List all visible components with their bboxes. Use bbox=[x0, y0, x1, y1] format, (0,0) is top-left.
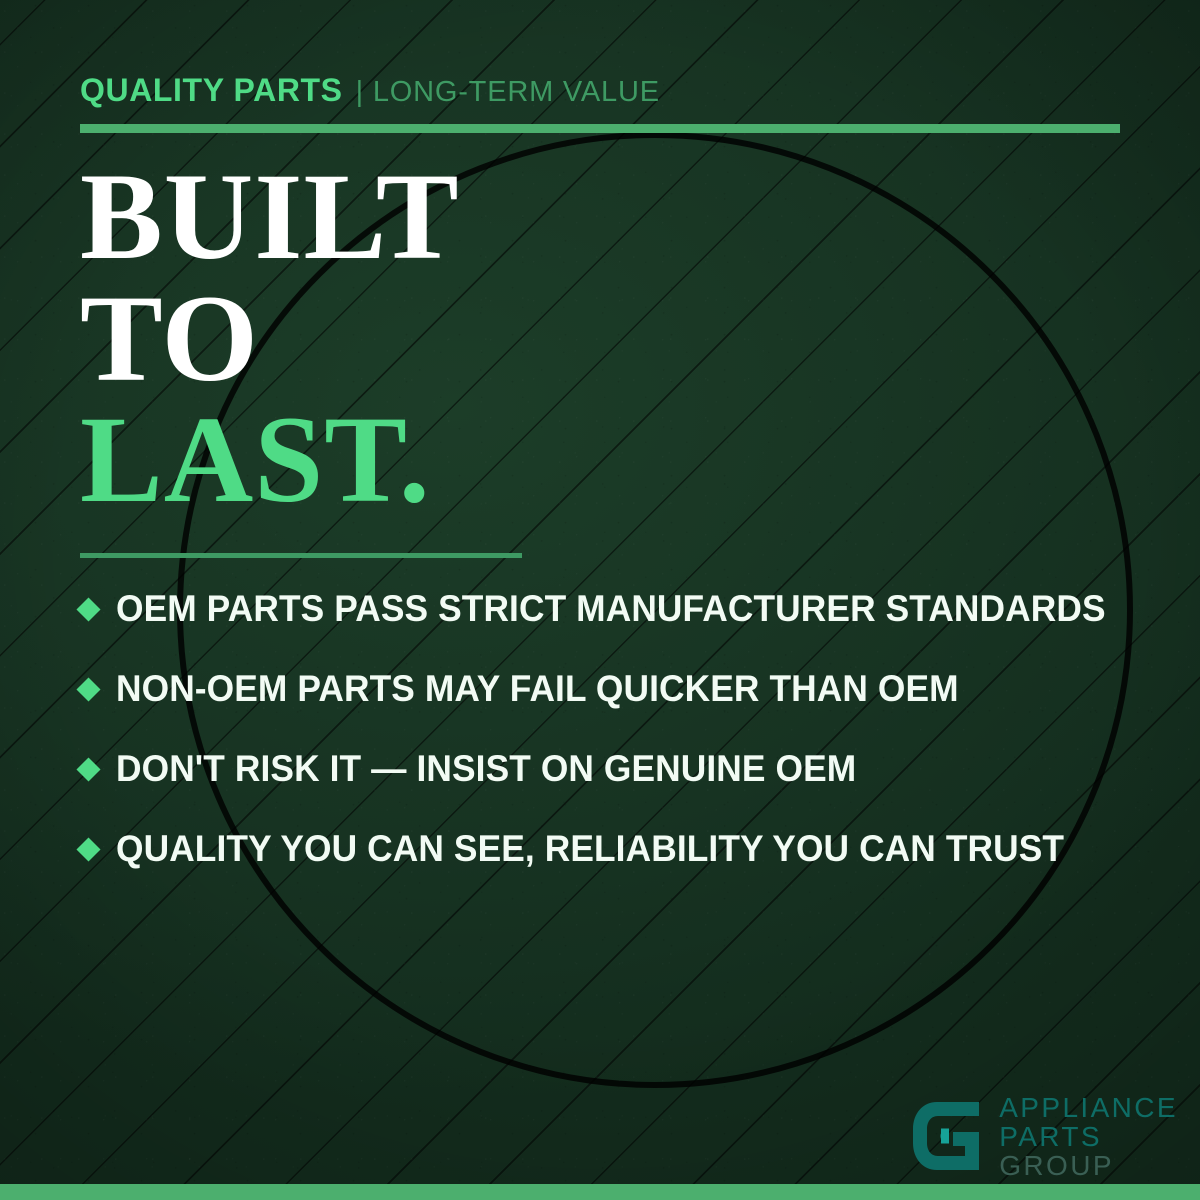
diamond-bullet-icon bbox=[76, 677, 100, 701]
list-item: NON-OEM PARTS MAY FAIL QUICKER THAN OEM bbox=[80, 668, 1140, 710]
list-item: OEM PARTS PASS STRICT MANUFACTURER STAND… bbox=[80, 588, 1140, 630]
header-divider-rule bbox=[80, 124, 1120, 133]
poster-content: QUALITY PARTS | LONG-TERM VALUE BUILT TO… bbox=[0, 0, 1200, 1200]
brand-line-3: GROUP bbox=[999, 1151, 1178, 1180]
list-item: QUALITY YOU CAN SEE, RELIABILITY YOU CAN… bbox=[80, 828, 1140, 870]
page-title: BUILT TO LAST. bbox=[80, 156, 460, 521]
eyebrow-main-label: QUALITY PARTS bbox=[80, 72, 343, 109]
brand-logo: APPLIANCE PARTS GROUP bbox=[907, 1093, 1178, 1180]
list-item: DON'T RISK IT — INSIST ON GENUINE OEM bbox=[80, 748, 1140, 790]
eyebrow-sub-label: | LONG-TERM VALUE bbox=[356, 76, 660, 109]
headline-line-1: BUILT bbox=[80, 156, 460, 278]
header-eyebrow: QUALITY PARTS | LONG-TERM VALUE bbox=[80, 72, 660, 109]
list-item-label: DON'T RISK IT — INSIST ON GENUINE OEM bbox=[116, 748, 856, 790]
list-item-label: QUALITY YOU CAN SEE, RELIABILITY YOU CAN… bbox=[116, 828, 1064, 870]
bottom-accent-bar bbox=[0, 1184, 1200, 1200]
g-monogram-icon bbox=[907, 1096, 987, 1176]
list-item-label: OEM PARTS PASS STRICT MANUFACTURER STAND… bbox=[116, 588, 1106, 630]
headline-line-2: TO bbox=[80, 278, 460, 400]
brand-wordmark: APPLIANCE PARTS GROUP bbox=[999, 1093, 1178, 1180]
headline-divider-rule bbox=[80, 553, 522, 558]
brand-line-2: PARTS bbox=[999, 1122, 1178, 1151]
diamond-bullet-icon bbox=[76, 597, 100, 621]
list-item-label: NON-OEM PARTS MAY FAIL QUICKER THAN OEM bbox=[116, 668, 959, 710]
benefit-list: OEM PARTS PASS STRICT MANUFACTURER STAND… bbox=[80, 588, 1140, 870]
poster-canvas: QUALITY PARTS | LONG-TERM VALUE BUILT TO… bbox=[0, 0, 1200, 1200]
headline-line-3-accent: LAST. bbox=[80, 399, 460, 521]
brand-line-1: APPLIANCE bbox=[999, 1093, 1178, 1122]
diamond-bullet-icon bbox=[76, 837, 100, 861]
diamond-bullet-icon bbox=[76, 757, 100, 781]
